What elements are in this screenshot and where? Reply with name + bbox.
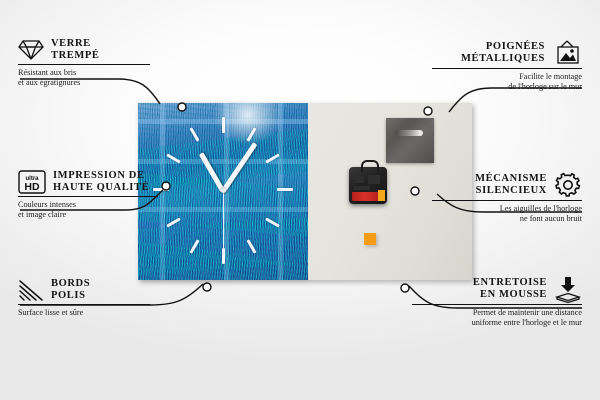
callout-rule (18, 304, 150, 305)
callout-subtitle-line2: et aux égratignures (18, 78, 168, 88)
callout-title-line1: VERRE (51, 38, 100, 50)
second-hand (223, 189, 224, 255)
callout-title-line1: ENTRETOISE (473, 277, 547, 289)
callout-rule (18, 64, 150, 65)
foam-spacer-icon (554, 276, 582, 302)
hanger-plate (386, 118, 434, 163)
callout-title-line1: IMPRESSION DE (53, 170, 149, 182)
hand-center-cap (221, 188, 226, 193)
callout-rule (18, 196, 158, 197)
callout-entretoise-en-mousse: ENTRETOISE EN MOUSSE Permet de maintenir… (412, 276, 582, 328)
badge-text-bottom: HD (24, 181, 40, 193)
gear-icon (554, 172, 582, 198)
connector-dot (203, 283, 211, 291)
callout-rule (432, 68, 582, 69)
callout-subtitle-line1: Facilite le montage (432, 72, 582, 82)
callout-title-line1: BORDS (51, 278, 90, 290)
callout-subtitle-line1: Les aiguilles de l'horloge (432, 204, 582, 214)
callout-mecanisme-silencieux: MÉCANISME SILENCIEUX Les aiguilles de l'… (432, 172, 582, 224)
infographic-canvas: VERRE TREMPÉ Résistant aux bris et aux é… (0, 0, 600, 400)
callout-subtitle-line2: uniforme entre l'horloge et le mur (412, 318, 582, 328)
callout-title-line1: POIGNÉES (461, 41, 545, 53)
callout-subtitle-line1: Surface lisse et sûre (18, 308, 168, 318)
battery (352, 192, 384, 201)
callout-title-line2: EN MOUSSE (473, 289, 547, 301)
callout-rule (412, 304, 582, 305)
picture-hanger-icon (552, 40, 582, 66)
callout-rule (432, 200, 582, 201)
hanger-slot (395, 130, 423, 136)
callout-impression-haute-qualite: ultra HD IMPRESSION DE HAUTE QUALITÉ Cou… (18, 170, 178, 220)
hour-marker (277, 188, 293, 191)
connector-dot (401, 284, 409, 292)
callout-subtitle-line2: et image claire (18, 210, 178, 220)
callout-verre-trempe: VERRE TREMPÉ Résistant aux bris et aux é… (18, 38, 168, 88)
mechanism-hook (361, 160, 379, 172)
callout-title-line2: POLIS (51, 290, 90, 302)
callout-poignees-metalliques: POIGNÉES MÉTALLIQUES Facilite le montage… (432, 40, 582, 92)
ultra-hd-badge-icon: ultra HD (18, 170, 46, 194)
polished-edge-icon (18, 279, 44, 301)
callout-title-line2: HAUTE QUALITÉ (53, 182, 149, 194)
callout-title-line2: TREMPÉ (51, 50, 100, 62)
foam-spacer (364, 233, 376, 245)
battery-terminal (378, 190, 385, 201)
callout-subtitle-line2: ne font aucun bruit (432, 214, 582, 224)
callout-title-line2: MÉTALLIQUES (461, 53, 545, 65)
callout-title-line1: MÉCANISME (475, 173, 547, 185)
callout-title-line2: SILENCIEUX (475, 185, 547, 197)
callout-bords-polis: BORDS POLIS Surface lisse et sûre (18, 278, 168, 318)
hour-marker (222, 117, 225, 133)
callout-subtitle-line2: de l'horloge sur le mur (432, 82, 582, 92)
callout-subtitle-line1: Couleurs intenses (18, 200, 178, 210)
clock-mechanism (349, 167, 387, 204)
product-image (138, 103, 472, 280)
diamond-icon (18, 39, 44, 61)
callout-subtitle-line1: Permet de maintenir une distance (412, 308, 582, 318)
hour-marker (189, 127, 199, 141)
callout-subtitle-line1: Résistant aux bris (18, 68, 168, 78)
